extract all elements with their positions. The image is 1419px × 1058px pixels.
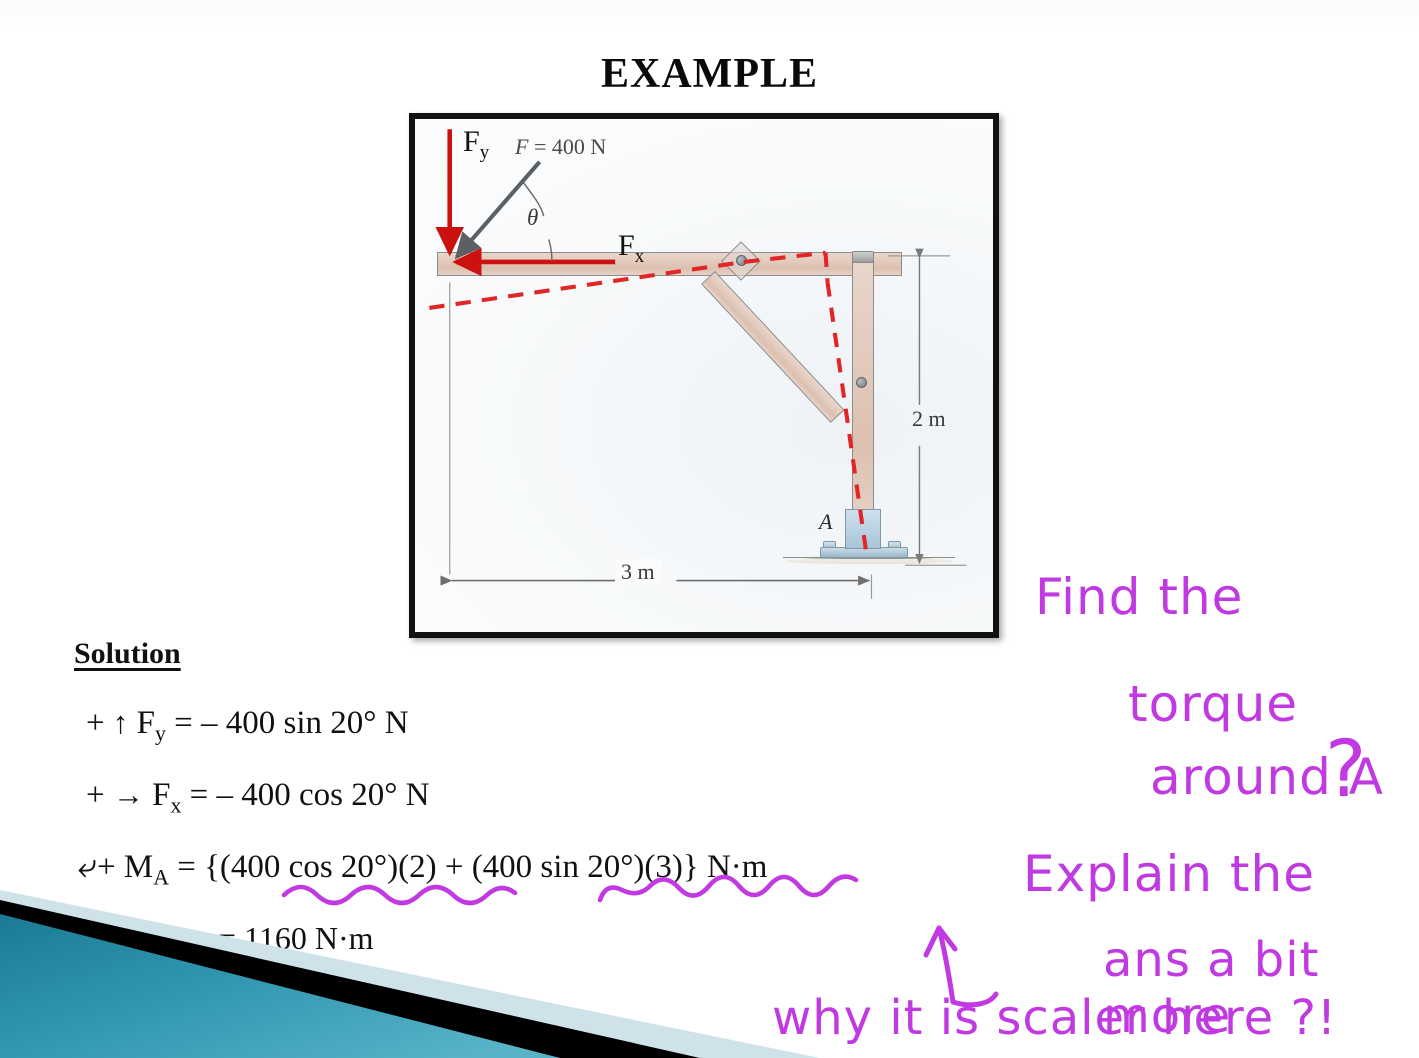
label-theta: θ	[527, 205, 538, 231]
annotation-find: Find the	[1035, 568, 1243, 626]
annotation-explain: Explain the	[1023, 845, 1315, 903]
label-dimension-vertical: 2 m	[912, 406, 946, 432]
solution-heading: Solution	[74, 637, 181, 671]
page-title: EXAMPLE	[0, 50, 1419, 98]
label-point-a: A	[819, 509, 832, 535]
figure-vector-layer	[415, 119, 993, 631]
annotation-question-mark: ?	[1325, 735, 1366, 805]
label-force-magnitude: F = 400 N	[515, 134, 606, 160]
label-fx: Fx	[618, 229, 644, 268]
annotation-torque: torque	[1128, 675, 1298, 733]
up-arrow-icon: ↑	[113, 705, 129, 740]
top-background-band	[0, 0, 1419, 30]
label-dimension-horizontal: 3 m	[615, 559, 661, 585]
label-fy: Fy	[463, 125, 489, 164]
equation-fx: + → Fx = – 400 cos 20° N	[86, 777, 430, 819]
right-arrow-icon: →	[113, 777, 144, 812]
ink-pointer-head	[926, 928, 955, 955]
figure-panel: Fy F = 400 N θ Fx A 2 m 3 m	[409, 113, 999, 638]
decorative-corner	[0, 828, 820, 1058]
annotation-why-scaler: why it is scaler here ?!	[772, 990, 1337, 1046]
equation-fy: + ↑ Fy = – 400 sin 20° N	[86, 705, 409, 747]
